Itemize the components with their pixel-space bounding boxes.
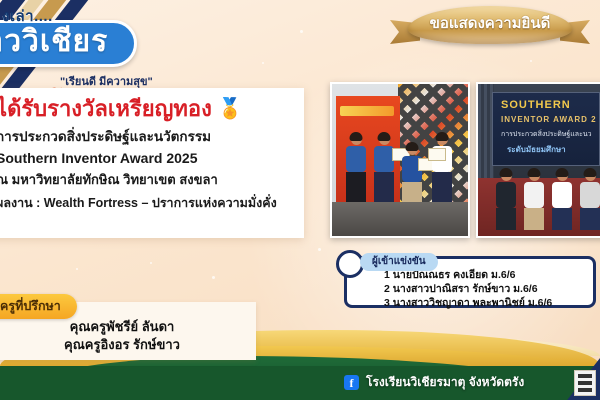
photo2-person: [524, 170, 544, 230]
photo2-screen-line3: การประกวดสิ่งประดิษฐ์และนว: [501, 129, 592, 140]
list-item: 2 นางสาวปาณิสรา รักษ์ขาว ม.6/6: [366, 283, 592, 297]
photo2-screen-line4: ระดับมัธยมศึกษา: [507, 143, 566, 156]
advisors-label: ครูที่ปรึกษา: [0, 294, 77, 319]
participants-list: 1 นายปัณณธร คงเอียด ม.6/6 2 นางสาวปาณิสร…: [366, 269, 592, 311]
header-kicker: งเล่า....: [2, 4, 53, 28]
gold-medal-icon: 🏅: [218, 99, 243, 119]
photo1-person: [402, 144, 422, 202]
photo2-person: [552, 170, 572, 230]
photo2-screen-line2: INVENTOR AWARD 2: [501, 115, 597, 124]
advisors-panel: ครูที่ปรึกษา คุณครูพัชรีย์ ลันดา คุณครูอ…: [0, 296, 256, 360]
poster-canvas: งเล่า.... ชาววิเชียร "เรียนดี มีความสุข"…: [0, 0, 600, 400]
award-headline: ได้รับรางวัลเหรียญทอง: [0, 96, 212, 121]
footer-credit: f โรงเรียนวิเชียรมาตุ จังหวัดตรัง: [344, 373, 524, 392]
photo1-person: [374, 134, 394, 202]
award-headline-row: ได้รับรางวัลเหรียญทอง 🏅: [0, 96, 298, 121]
ribbon-band: ขอแสดงความยินดี: [408, 6, 572, 44]
corner-marker: [574, 370, 596, 396]
photo2-projection-screen: SOUTHERN INVENTOR AWARD 2 การประกวดสิ่งป…: [492, 92, 600, 166]
participants-panel: ผู้เข้าแข่งขัน 1 นายปัณณธร คงเอียด ม.6/6…: [338, 252, 596, 308]
facebook-page-name: โรงเรียนวิเชียรมาตุ จังหวัดตรัง: [366, 373, 524, 392]
award-event-name: Southern Inventor Award 2025: [0, 150, 298, 166]
photo2-screen-line1: SOUTHERN: [501, 99, 571, 111]
list-item: คุณครูอิงอร รักษ์ขาว: [0, 336, 256, 354]
advisors-list: คุณครูพัชรีย์ ลันดา คุณครูอิงอร รักษ์ขาว: [0, 318, 256, 353]
photo-stage-ceremony: SOUTHERN INVENTOR AWARD 2 การประกวดสิ่งป…: [476, 82, 600, 238]
award-competition: การประกวดสิ่งประดิษฐ์และนวัตกรรม: [0, 125, 298, 147]
photo-group-certificates: [330, 82, 470, 238]
photo1-person: [432, 134, 452, 202]
award-project: ผลงาน : Wealth Fortress – ปราการแห่งความ…: [0, 193, 298, 213]
photo2-person: [496, 170, 516, 230]
ribbon-text: ขอแสดงความยินดี: [430, 11, 551, 35]
award-card: ได้รับรางวัลเหรียญทอง 🏅 การประกวดสิ่งประ…: [0, 88, 304, 238]
photo2-person: [580, 170, 600, 230]
list-item: 3 นางสาววิชญาดา พละพานิชย์ ม.6/6: [366, 297, 592, 311]
header-block: งเล่า.... ชาววิเชียร: [0, 6, 232, 68]
facebook-icon[interactable]: f: [344, 375, 359, 390]
congratulations-ribbon: ขอแสดงความยินดี: [392, 6, 588, 46]
award-venue: ณ มหาวิทยาลัยทักษิณ วิทยาเขต สงขลา: [0, 169, 298, 190]
photo1-person: [346, 134, 366, 202]
page-title: ชาววิเชียร: [0, 26, 108, 58]
participants-label: ผู้เข้าแข่งขัน: [360, 253, 438, 271]
list-item: คุณครูพัชรีย์ ลันดา: [0, 318, 256, 336]
list-item: 1 นายปัณณธร คงเอียด ม.6/6: [366, 269, 592, 283]
